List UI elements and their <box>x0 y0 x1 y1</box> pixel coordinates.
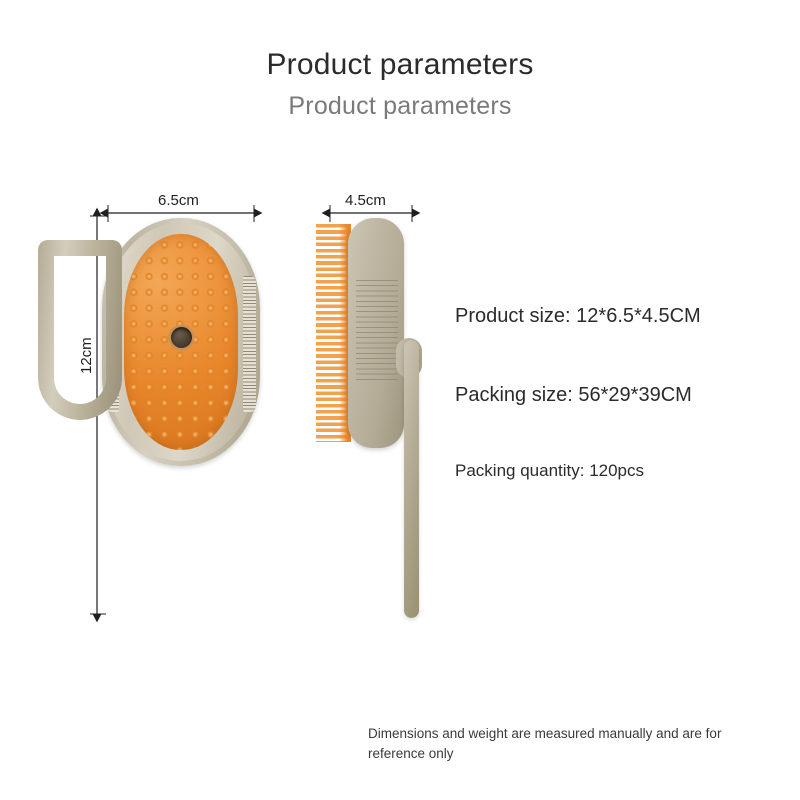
page-title: Product parameters <box>0 48 800 82</box>
bristles <box>316 224 350 442</box>
spec-packing-size: Packing size: 56*29*39CM <box>455 384 775 407</box>
dimension-label-side-width: 4.5cm <box>345 192 386 209</box>
dimension-label-front-width: 6.5cm <box>158 192 199 209</box>
page-subtitle: Product parameters <box>0 92 800 121</box>
body-ridges <box>356 280 398 384</box>
product-front-view <box>102 218 260 466</box>
specification-list: Product size: 12*6.5*4.5CM Packing size:… <box>455 305 775 481</box>
loop-handle-front <box>38 240 122 420</box>
measurement-disclaimer: Dimensions and weight are measured manua… <box>368 724 780 763</box>
spec-product-size: Product size: 12*6.5*4.5CM <box>455 305 775 328</box>
product-side-view <box>316 218 436 468</box>
spec-packing-quantity: Packing quantity: 120pcs <box>455 461 775 481</box>
loop-handle-side <box>404 340 419 618</box>
steam-nozzle-hole <box>171 327 192 348</box>
brush-body-side <box>348 218 404 448</box>
comb-teeth-right <box>243 276 256 412</box>
product-parameters-page: Product parameters Product parameters 6.… <box>0 0 800 800</box>
